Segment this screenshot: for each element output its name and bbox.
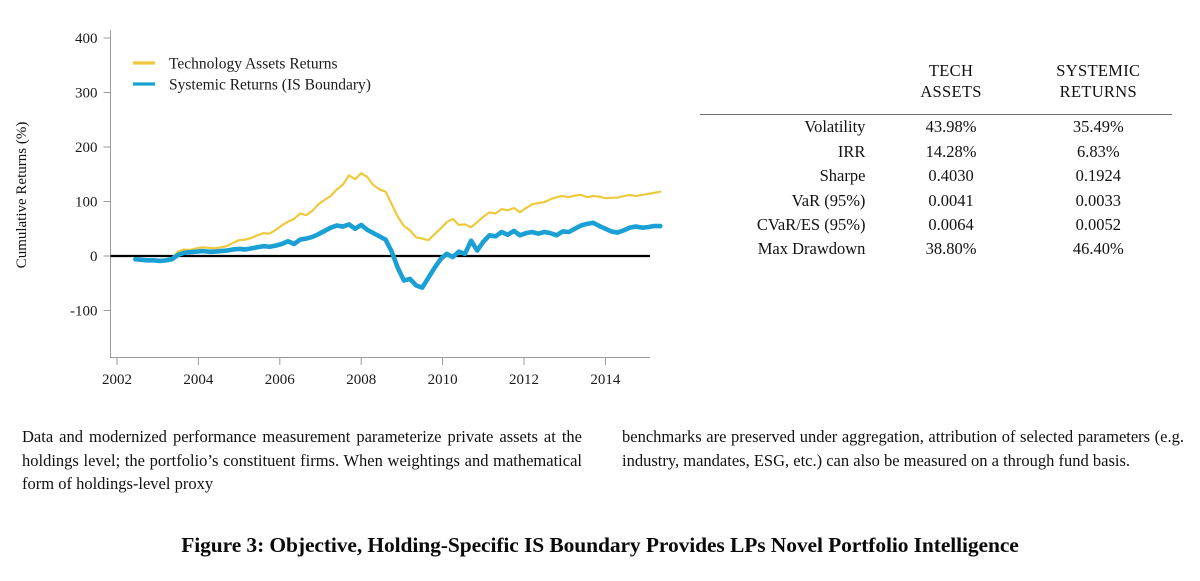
y-axis-title: Cumulative Returns (%) — [14, 122, 30, 269]
metric-value-tech: 0.4030 — [877, 164, 1024, 188]
table-corner-cell — [700, 60, 877, 106]
metrics-table-head: TECH ASSETS SYSTEMIC RETURNS — [700, 60, 1172, 115]
table-row: CVaR/ES (95%)0.00640.0052 — [700, 213, 1172, 237]
column-header-systemic-returns-line2: RETURNS — [1025, 81, 1172, 102]
chart-legend: Technology Assets ReturnsSystemic Return… — [133, 56, 371, 94]
metric-label: Sharpe — [700, 164, 877, 188]
article-body-text: Data and modernized performance measurem… — [0, 425, 1200, 505]
figure-caption: Figure 3: Objective, Holding-Specific IS… — [0, 533, 1200, 558]
metric-value-systemic: 0.0033 — [1025, 188, 1172, 212]
body-text-right-column: benchmarks are preserved under aggregati… — [622, 425, 1184, 472]
chart-series-group — [135, 173, 660, 287]
metric-value-systemic: 0.1924 — [1025, 164, 1172, 188]
y-tick-label: 100 — [75, 195, 98, 211]
metric-label: Volatility — [700, 115, 877, 140]
performance-metrics-table: TECH ASSETS SYSTEMIC RETURNS Volatility4… — [700, 60, 1180, 261]
metric-value-systemic: 35.49% — [1025, 115, 1172, 140]
metrics-header-row: TECH ASSETS SYSTEMIC RETURNS — [700, 60, 1172, 106]
x-tick-label: 2012 — [509, 372, 539, 388]
x-tick-label: 2010 — [428, 372, 458, 388]
series-path-tech-assets — [135, 173, 660, 260]
body-text-left-column: Data and modernized performance measurem… — [22, 425, 582, 496]
header-rule-mid — [877, 106, 1024, 115]
metrics-table-body: Volatility43.98%35.49%IRR14.28%6.83%Shar… — [700, 115, 1172, 262]
metric-label: CVaR/ES (95%) — [700, 213, 877, 237]
y-tick-label: 0 — [90, 249, 98, 265]
header-rule-right — [1025, 106, 1172, 115]
metric-value-tech: 14.28% — [877, 140, 1024, 164]
x-tick-label: 2006 — [265, 372, 296, 388]
metric-value-systemic: 6.83% — [1025, 140, 1172, 164]
y-tick-label: 300 — [75, 86, 98, 102]
column-header-systemic-returns-line1: SYSTEMIC — [1025, 60, 1172, 81]
y-tick-label: 400 — [75, 31, 98, 47]
body-paragraph-right: benchmarks are preserved under aggregati… — [622, 425, 1184, 472]
table-row: Sharpe0.40300.1924 — [700, 164, 1172, 188]
column-header-tech-assets-line2: ASSETS — [877, 81, 1024, 102]
table-row: IRR14.28%6.83% — [700, 140, 1172, 164]
metric-label: IRR — [700, 140, 877, 164]
legend-label-systemic-returns: Systemic Returns (IS Boundary) — [169, 77, 371, 94]
metric-value-tech: 0.0041 — [877, 188, 1024, 212]
metric-value-tech: 0.0064 — [877, 213, 1024, 237]
header-rule-left — [700, 106, 877, 115]
x-axis-ticks: 2002200420062008201020122014 — [102, 358, 621, 389]
column-header-systemic-returns: SYSTEMIC RETURNS — [1025, 60, 1172, 106]
legend-label-tech-assets: Technology Assets Returns — [169, 56, 338, 73]
metric-value-tech: 43.98% — [877, 115, 1024, 140]
cumulative-returns-chart: 4003002001000-100 2002200420062008201020… — [0, 0, 680, 418]
metric-label: VaR (95%) — [700, 188, 877, 212]
table-row: VaR (95%)0.00410.0033 — [700, 188, 1172, 212]
x-tick-label: 2014 — [590, 372, 621, 388]
figure-container: 4003002001000-100 2002200420062008201020… — [0, 0, 1200, 418]
table-row: Max Drawdown38.80%46.40% — [700, 237, 1172, 261]
metric-value-tech: 38.80% — [877, 237, 1024, 261]
y-tick-label: -100 — [70, 304, 98, 320]
y-axis-ticks: 4003002001000-100 — [70, 31, 111, 320]
metric-label: Max Drawdown — [700, 237, 877, 261]
column-header-tech-assets: TECH ASSETS — [877, 60, 1024, 106]
metrics-header-rule — [700, 106, 1172, 115]
metric-value-systemic: 0.0052 — [1025, 213, 1172, 237]
metric-value-systemic: 46.40% — [1025, 237, 1172, 261]
y-tick-label: 200 — [75, 140, 98, 156]
column-header-tech-assets-line1: TECH — [877, 60, 1024, 81]
body-paragraph-left: Data and modernized performance measurem… — [22, 425, 582, 496]
metrics-table-element: TECH ASSETS SYSTEMIC RETURNS Volatility4… — [700, 60, 1172, 261]
x-tick-label: 2008 — [346, 372, 376, 388]
table-row: Volatility43.98%35.49% — [700, 115, 1172, 140]
x-tick-label: 2004 — [183, 372, 214, 388]
chart-canvas: 4003002001000-100 2002200420062008201020… — [0, 0, 680, 418]
x-tick-label: 2002 — [102, 372, 132, 388]
